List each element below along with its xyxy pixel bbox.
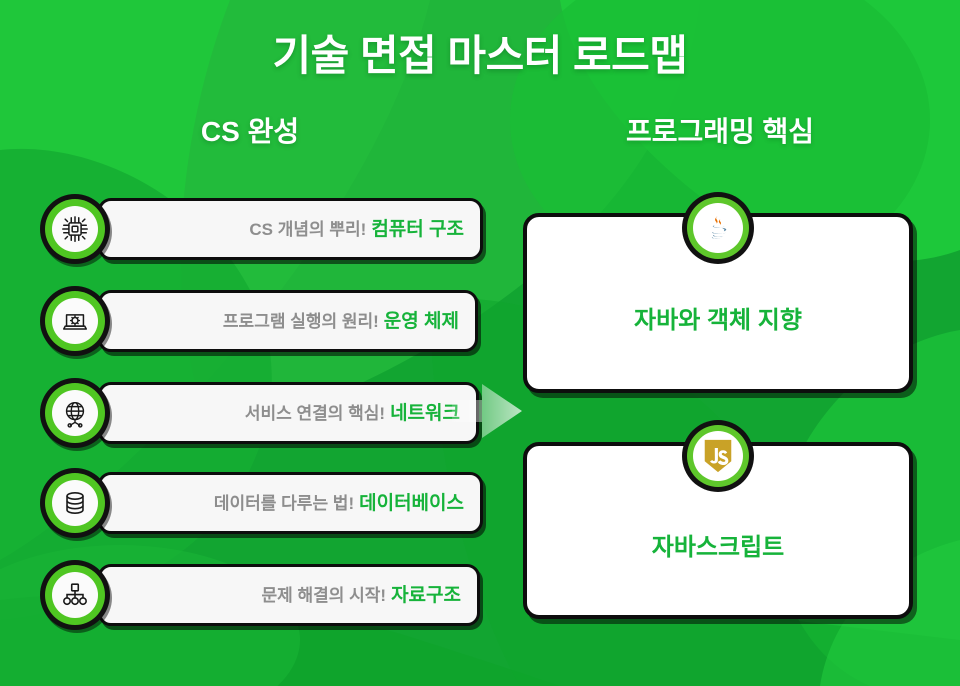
column-heading-programming: 프로그래밍 핵심 — [520, 110, 920, 150]
cs-card-operating-system[interactable]: 프로그램 실행의 원리!운영 체제 — [98, 290, 478, 352]
right-arrow-icon — [452, 378, 524, 444]
laptop-gear-icon — [40, 286, 110, 356]
page-title: 기술 면접 마스터 로드맵 — [0, 22, 960, 83]
cs-card-keyword: 운영 체제 — [384, 311, 459, 332]
cs-card-database[interactable]: 데이터를 다루는 법!데이터베이스 — [98, 472, 483, 534]
cs-card-keyword: 데이터베이스 — [359, 493, 464, 514]
cs-card-network[interactable]: 서비스 연결의 핵심!네트워크 — [98, 382, 479, 444]
cs-card-data-structure[interactable]: 문제 해결의 시작!자료구조 — [98, 564, 480, 626]
cs-card-keyword: 컴퓨터 구조 — [371, 219, 464, 240]
globe-icon — [40, 378, 110, 448]
cs-card-keyword: 네트워크 — [390, 403, 460, 424]
javascript-logo-icon — [682, 420, 754, 492]
lang-panel-label: 자바와 객체 지향 — [634, 300, 802, 335]
cs-card-prefix: 서비스 연결의 핵심! — [245, 404, 385, 423]
cs-card-prefix: 프로그램 실행의 원리! — [223, 312, 379, 331]
java-logo-icon — [682, 192, 754, 264]
cs-card-prefix: CS 개념의 뿌리! — [249, 220, 366, 239]
lang-panel-label: 자바스크립트 — [652, 527, 784, 562]
cs-card-prefix: 문제 해결의 시작! — [261, 586, 386, 605]
column-heading-cs: CS 완성 — [60, 110, 440, 150]
cs-card-keyword: 자료구조 — [391, 585, 461, 606]
cs-card-computer-architecture[interactable]: CS 개념의 뿌리!컴퓨터 구조 — [98, 198, 483, 260]
cpu-chip-icon — [40, 194, 110, 264]
cs-card-prefix: 데이터를 다루는 법! — [214, 494, 354, 513]
database-icon — [40, 468, 110, 538]
tree-structure-icon — [40, 560, 110, 630]
